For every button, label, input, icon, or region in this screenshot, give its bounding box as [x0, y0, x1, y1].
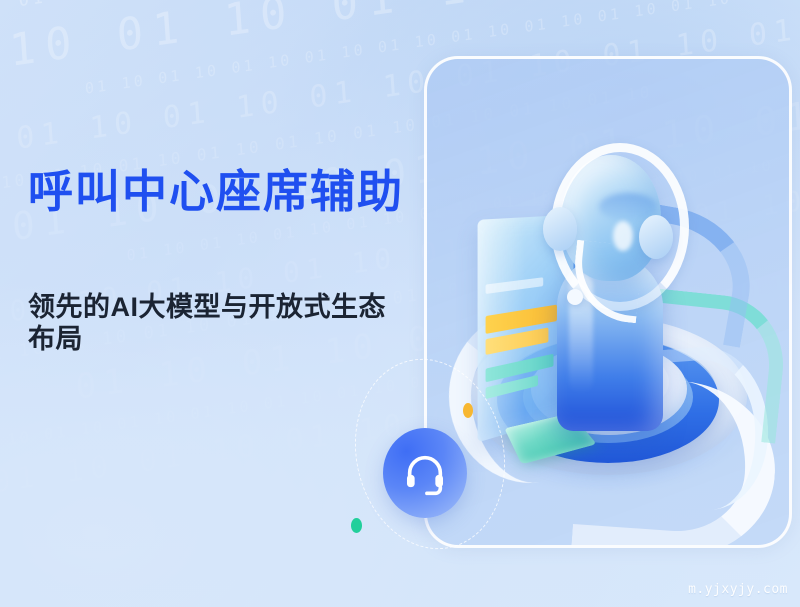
watermark: m.yjxyjy.com [688, 582, 788, 597]
headset-icon [402, 450, 448, 496]
orange-accent-dot [463, 403, 473, 418]
page-subtitle: 领先的AI大模型与开放式生态布局 [28, 217, 408, 356]
promo-banner: 01 10 01 10 01 10 01 10 01 10 01 10 01 1… [0, 0, 800, 607]
headset-badge [383, 428, 467, 518]
headset-earcup-left [543, 207, 577, 251]
agent-figure [535, 139, 685, 429]
headset-mic-tip [567, 289, 583, 305]
banner-text-block: 呼叫中心座席辅助 领先的AI大模型与开放式生态布局 [28, 168, 408, 355]
headset-earcup-right [639, 215, 673, 259]
green-accent-dot [351, 518, 362, 533]
binary-row: 01 10 01 10 01 10 01 10 01 10 01 10 01 1… [18, 0, 800, 10]
page-title: 呼叫中心座席辅助 [28, 168, 408, 217]
